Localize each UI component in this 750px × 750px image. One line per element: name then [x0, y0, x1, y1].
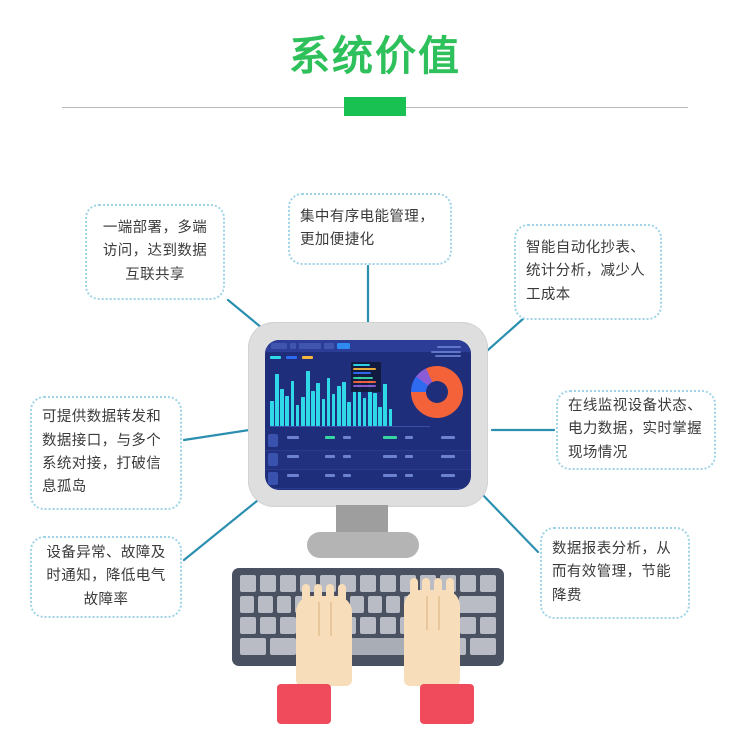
key[interactable] — [277, 596, 291, 613]
key[interactable] — [240, 638, 266, 655]
table-row[interactable] — [265, 489, 471, 490]
bar — [322, 399, 326, 426]
monitor-screen[interactable] — [265, 340, 471, 490]
table-cell — [405, 474, 413, 477]
callout-text: 可提供数据转发和数据接口，与多个系统对接，打破信息孤岛 — [42, 406, 170, 500]
finger — [302, 584, 310, 606]
tooltip-row — [353, 368, 376, 370]
bar — [327, 378, 331, 426]
data-table[interactable] — [265, 432, 471, 490]
finger — [410, 578, 418, 600]
table-cell — [383, 455, 397, 458]
key[interactable] — [480, 617, 496, 634]
connector-box7 — [480, 492, 538, 552]
hand-left — [296, 596, 352, 686]
monitor — [248, 322, 488, 507]
key[interactable] — [240, 596, 254, 613]
callout-data-interface[interactable]: 可提供数据转发和数据接口，与多个系统对接，打破信息孤岛 — [30, 396, 182, 510]
bar — [275, 374, 279, 426]
key[interactable] — [360, 575, 376, 592]
bar — [363, 398, 367, 426]
table-cell — [441, 455, 455, 458]
donut-legend-row — [431, 351, 461, 353]
table-cell — [343, 436, 351, 439]
monitor-base — [307, 532, 419, 558]
sleeve-right — [420, 684, 474, 724]
donut-legend-row — [437, 346, 461, 348]
table-cell — [405, 436, 413, 439]
chart-legend — [270, 356, 313, 359]
callout-fault-alert[interactable]: 设备异常、故障及时通知，降低电气故障率 — [30, 536, 182, 618]
key[interactable] — [460, 575, 476, 592]
key[interactable] — [380, 575, 396, 592]
page-title: 系统价值 — [0, 34, 750, 79]
donut-legend-row — [435, 355, 461, 357]
table-cell — [287, 474, 299, 477]
bar — [316, 383, 320, 426]
hand-seam — [330, 602, 332, 636]
bar — [306, 371, 310, 426]
callout-report-analysis[interactable]: 数据报表分析，从而有效管理，节能降费 — [540, 527, 690, 619]
row-status-icon — [268, 453, 278, 466]
legend-swatch-1 — [270, 356, 281, 359]
key[interactable] — [380, 617, 396, 634]
toolbar-field-1[interactable] — [271, 343, 287, 349]
callout-auto-meter-reading[interactable]: 智能自动化抄表、统计分析，减少人工成本 — [514, 224, 662, 320]
tooltip-row — [353, 372, 371, 374]
callout-text: 数据报表分析，从而有效管理，节能降费 — [552, 538, 678, 608]
callout-deployment[interactable]: 一端部署，多端访问，达到数据互联共享 — [85, 204, 225, 300]
key[interactable] — [240, 617, 256, 634]
bar — [332, 394, 336, 426]
row-status-icon — [268, 472, 278, 485]
bar — [337, 386, 341, 426]
key[interactable] — [480, 575, 496, 592]
hand-right — [404, 590, 460, 686]
row-status-icon — [268, 434, 278, 447]
bar — [353, 390, 357, 426]
donut-ring — [411, 366, 463, 418]
table-cell — [441, 474, 455, 477]
key[interactable] — [280, 575, 296, 592]
donut-legend — [431, 346, 461, 360]
key[interactable] — [260, 617, 276, 634]
bar — [373, 393, 377, 426]
tooltip-row — [353, 377, 373, 379]
table-cell — [343, 455, 351, 458]
donut-chart — [411, 366, 463, 418]
hand-seam — [318, 602, 320, 636]
key[interactable] — [270, 638, 296, 655]
toolbar-search-button[interactable] — [337, 343, 350, 349]
bar — [342, 382, 346, 426]
bar — [296, 405, 300, 426]
legend-swatch-3 — [302, 356, 313, 359]
table-cell — [325, 474, 335, 477]
key[interactable] — [459, 596, 496, 613]
key[interactable] — [260, 575, 276, 592]
table-cell — [343, 474, 351, 477]
table-cell — [325, 455, 335, 458]
toolbar-field-4[interactable] — [324, 343, 334, 349]
table-cell — [287, 436, 299, 439]
tooltip-row — [353, 381, 376, 383]
bar — [383, 384, 387, 426]
tooltip-row — [353, 364, 370, 366]
bar — [301, 397, 305, 426]
poster-canvas: 系统价值 一端部署，多端访问，达到数据互联共享 集中有序电能管理，更加便捷化 智… — [0, 0, 750, 750]
toolbar-field-3[interactable] — [299, 343, 321, 349]
key[interactable] — [280, 617, 296, 634]
bar — [270, 401, 274, 426]
callout-energy-management[interactable]: 集中有序电能管理，更加便捷化 — [288, 193, 452, 265]
table-row[interactable] — [265, 451, 471, 470]
header-accent-bar — [344, 97, 406, 116]
finger — [338, 584, 346, 606]
key[interactable] — [368, 596, 382, 613]
hand-seam — [426, 596, 428, 630]
legend-swatch-2 — [286, 356, 297, 359]
bar — [389, 409, 393, 426]
finger — [446, 578, 454, 600]
callout-online-monitoring[interactable]: 在线监视设备状态、电力数据，实时掌握现场情况 — [556, 390, 716, 470]
bar — [311, 391, 315, 426]
table-row[interactable] — [265, 470, 471, 489]
table-cell — [325, 436, 335, 439]
table-row[interactable] — [265, 432, 471, 451]
bar — [378, 407, 382, 426]
chart-tooltip — [351, 362, 381, 392]
tooltip-row — [353, 385, 376, 387]
key[interactable] — [240, 575, 256, 592]
table-cell — [383, 474, 397, 477]
keyboard[interactable] — [232, 568, 504, 666]
chart-baseline — [270, 426, 430, 427]
bar — [280, 389, 284, 426]
key[interactable] — [360, 617, 376, 634]
sleeve-left — [277, 684, 331, 724]
bar — [347, 402, 351, 426]
table-cell — [405, 455, 413, 458]
monitor-neck — [336, 505, 388, 535]
key[interactable] — [470, 638, 496, 655]
callout-text: 集中有序电能管理，更加便捷化 — [300, 206, 440, 253]
bar — [291, 381, 295, 426]
hand-seam — [438, 596, 440, 630]
callout-text: 一端部署，多端访问，达到数据互联共享 — [97, 217, 213, 287]
bar — [285, 396, 289, 426]
table-cell — [383, 436, 397, 439]
keyboard-row — [240, 575, 496, 592]
callout-text: 设备异常、故障及时通知，降低电气故障率 — [42, 542, 170, 612]
table-cell — [287, 455, 299, 458]
key[interactable] — [460, 617, 476, 634]
key[interactable] — [386, 596, 400, 613]
toolbar-field-2[interactable] — [290, 343, 296, 349]
callout-text: 智能自动化抄表、统计分析，减少人工成本 — [526, 237, 650, 307]
table-cell — [441, 436, 455, 439]
key[interactable] — [258, 596, 272, 613]
callout-text: 在线监视设备状态、电力数据，实时掌握现场情况 — [568, 395, 704, 465]
